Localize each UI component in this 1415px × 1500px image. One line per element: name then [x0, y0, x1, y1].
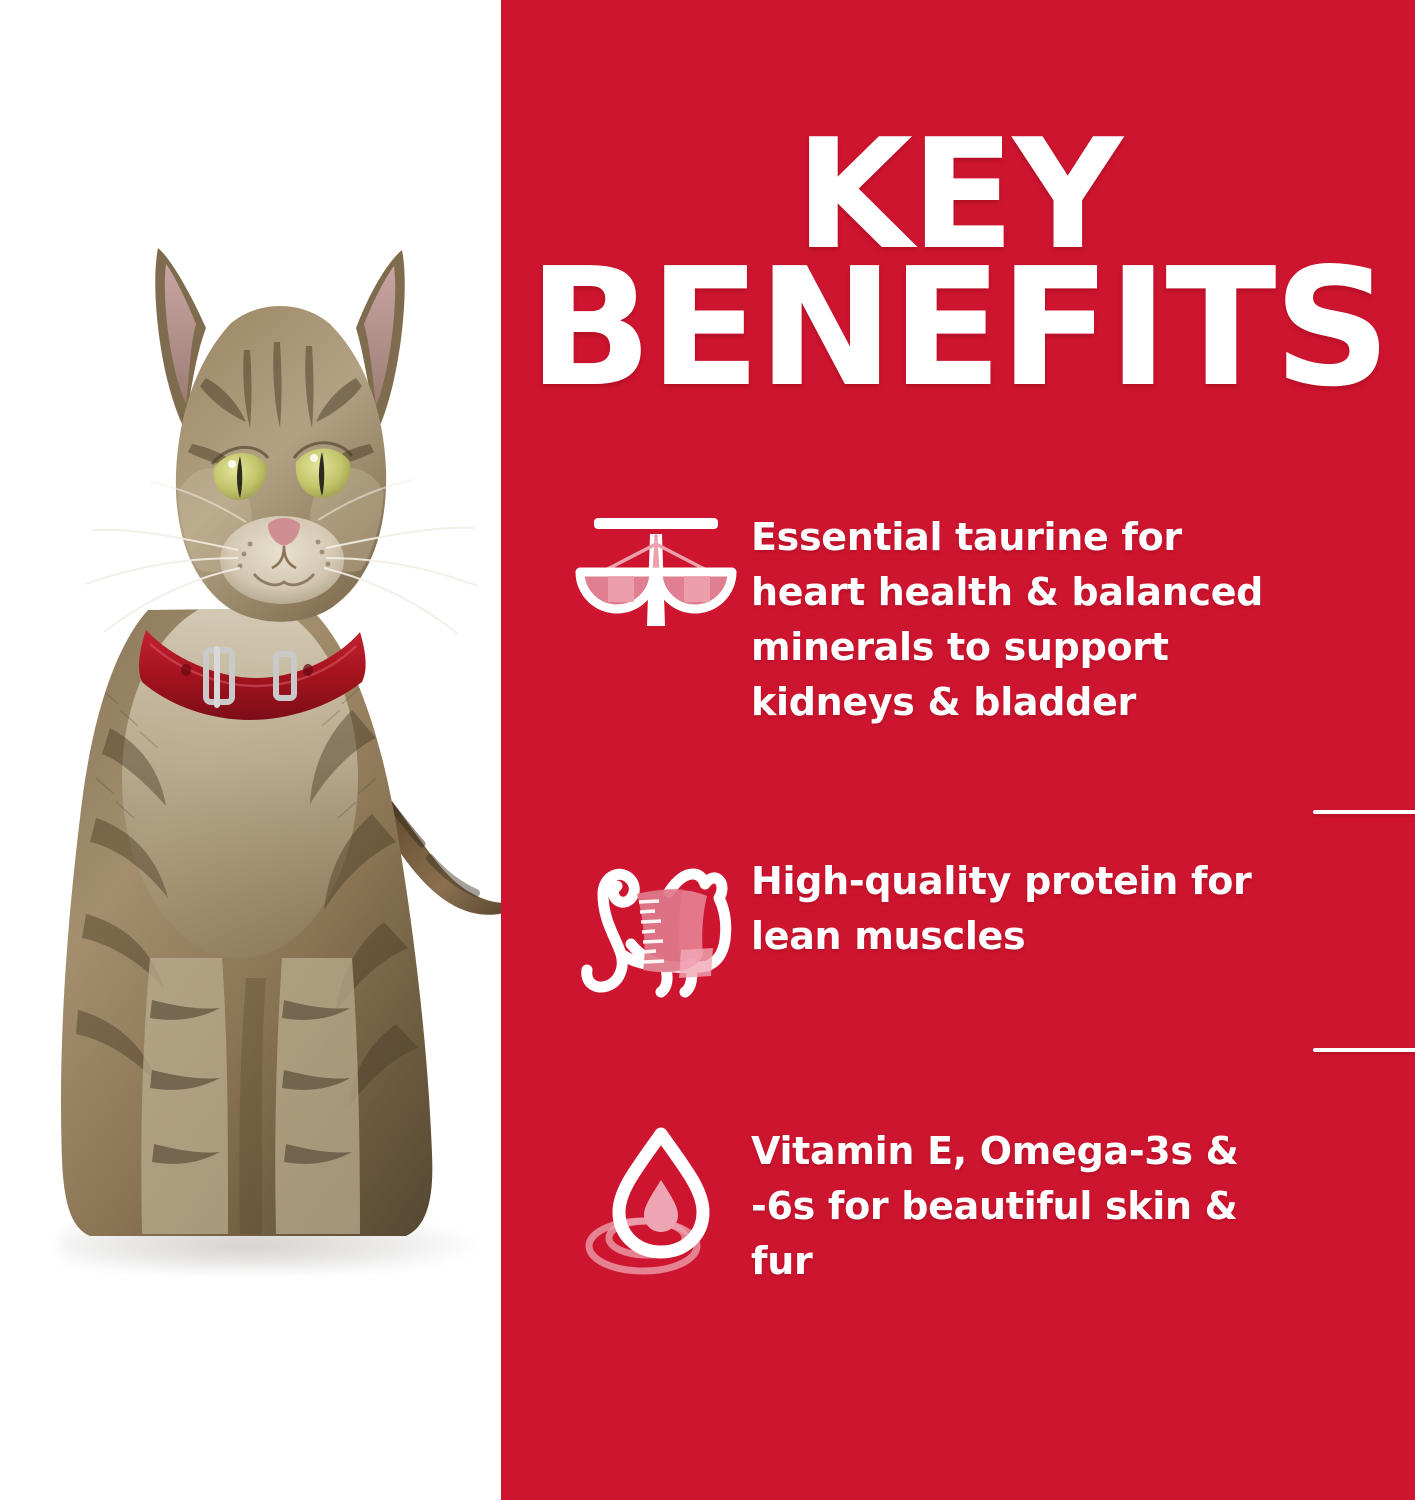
benefits-red-panel: KEY BENEFITS — [501, 0, 1415, 1500]
water-droplet-icon — [561, 1122, 751, 1280]
measuring-tape — [637, 889, 713, 978]
cat-measuring-tape-icon — [561, 852, 751, 1004]
page-title: KEY BENEFITS — [501, 128, 1415, 396]
balance-scale-icon — [561, 508, 751, 650]
benefit-text-vitamins: Vitamin E, Omega-3s & -6s for beautiful … — [751, 1122, 1281, 1289]
title-line-2: BENEFITS — [501, 262, 1415, 396]
benefit-text-taurine: Essential taurine for heart health & bal… — [751, 508, 1281, 730]
cat-photo — [0, 258, 501, 1282]
benefit-item-protein: High-quality protein for lean muscles — [561, 852, 1415, 1004]
key-benefits-panel: KEY BENEFITS — [0, 0, 1415, 1500]
cat-head — [86, 248, 478, 634]
benefit-divider-1 — [1313, 810, 1415, 814]
cat-photo-panel — [0, 0, 501, 1500]
benefit-divider-2 — [1313, 1048, 1415, 1052]
benefit-item-vitamins: Vitamin E, Omega-3s & -6s for beautiful … — [561, 1122, 1415, 1289]
benefit-text-protein: High-quality protein for lean muscles — [751, 852, 1281, 964]
benefit-item-taurine: Essential taurine for heart health & bal… — [561, 508, 1415, 730]
